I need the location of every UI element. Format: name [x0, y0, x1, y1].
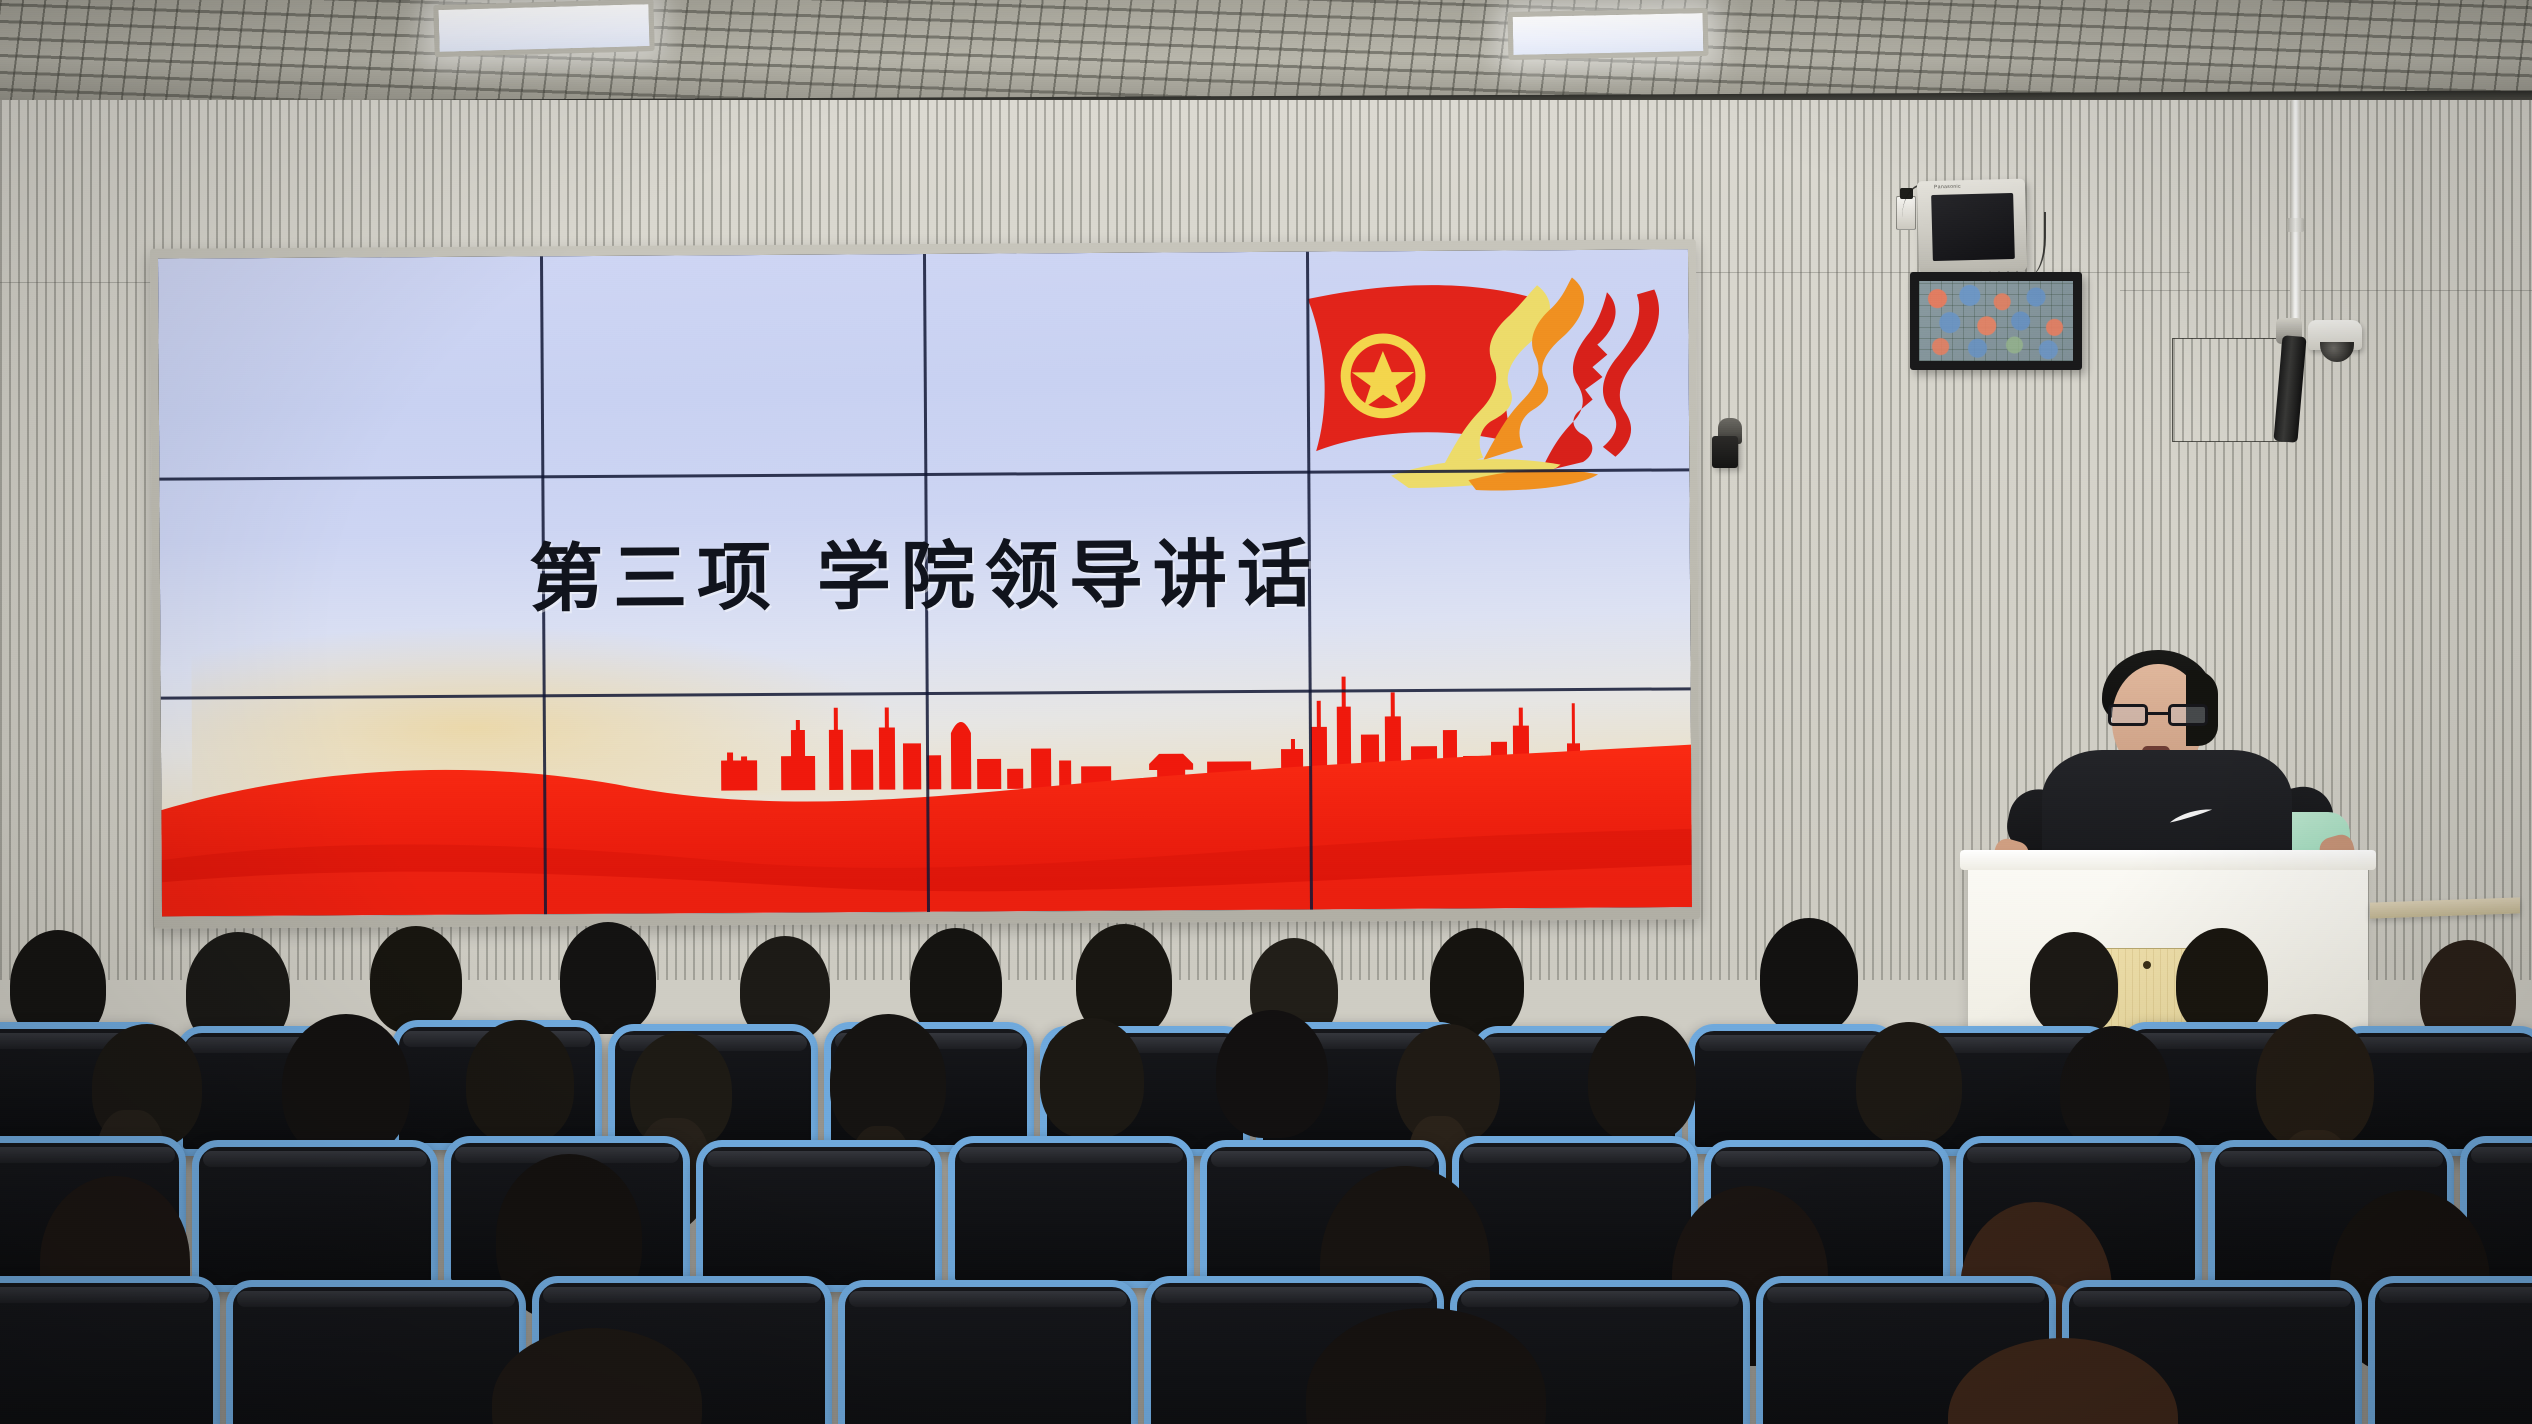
audience-chair[interactable]: [838, 1280, 1138, 1424]
audience-head: [1588, 1016, 1696, 1142]
lectern-top-surface: [1960, 850, 2376, 870]
audience-chair[interactable]: [226, 1280, 526, 1424]
audience-head: [560, 922, 656, 1034]
mosaic-tiles: [1919, 281, 2073, 361]
communist-youth-league-emblem-icon: [1273, 259, 1688, 498]
wall-seam: [2120, 290, 2532, 291]
monitor-screen: [1931, 193, 2015, 261]
audience-head: [1856, 1022, 1962, 1144]
audience-head: [1216, 1010, 1328, 1138]
auditorium-scene: Panasonic: [0, 0, 2532, 1424]
conduit-joint: [2287, 218, 2304, 232]
audience-head: [1040, 1018, 1144, 1138]
wall-speaker: [1712, 418, 1742, 466]
audience-head: [370, 926, 462, 1034]
audience-chair[interactable]: [696, 1140, 942, 1292]
video-wall-display[interactable]: 第三项 学院领导讲话: [158, 249, 1692, 916]
audience-chair[interactable]: [192, 1140, 438, 1292]
audience-chair[interactable]: [948, 1136, 1194, 1288]
audience-area: [0, 940, 2532, 1424]
audience-head: [2060, 1026, 2170, 1152]
glasses-lens-left: [2108, 704, 2148, 726]
swoosh-logo-icon: [2168, 808, 2214, 826]
ceiling-panel-light-right: [1508, 8, 1709, 60]
wall-access-panel: [2172, 338, 2290, 442]
speaker-body: [1712, 436, 1738, 468]
monitor-brand-label: Panasonic: [1934, 184, 1961, 191]
dome-security-camera: [2308, 320, 2362, 366]
decorative-mosaic-panel: [1910, 272, 2082, 370]
audience-head: [2176, 928, 2268, 1036]
glasses-bridge: [2148, 712, 2168, 715]
slide-title: 第三项 学院领导讲话: [160, 513, 1691, 629]
camera-dome-lens-icon: [2320, 342, 2354, 362]
wall-mounted-monitor: Panasonic: [1918, 180, 2026, 272]
audience-head: [2030, 932, 2118, 1036]
glasses-lens-right: [2168, 704, 2208, 726]
audience-head: [466, 1020, 574, 1144]
audience-head: [1760, 918, 1858, 1034]
eyeglasses-icon: [2108, 704, 2208, 726]
audience-chair[interactable]: [0, 1276, 220, 1424]
video-wall-frame: 第三项 学院领导讲话: [150, 239, 1700, 928]
audience-head: [282, 1014, 410, 1158]
ceiling-panel-light-left: [433, 0, 654, 57]
audience-chair[interactable]: [2368, 1276, 2532, 1424]
